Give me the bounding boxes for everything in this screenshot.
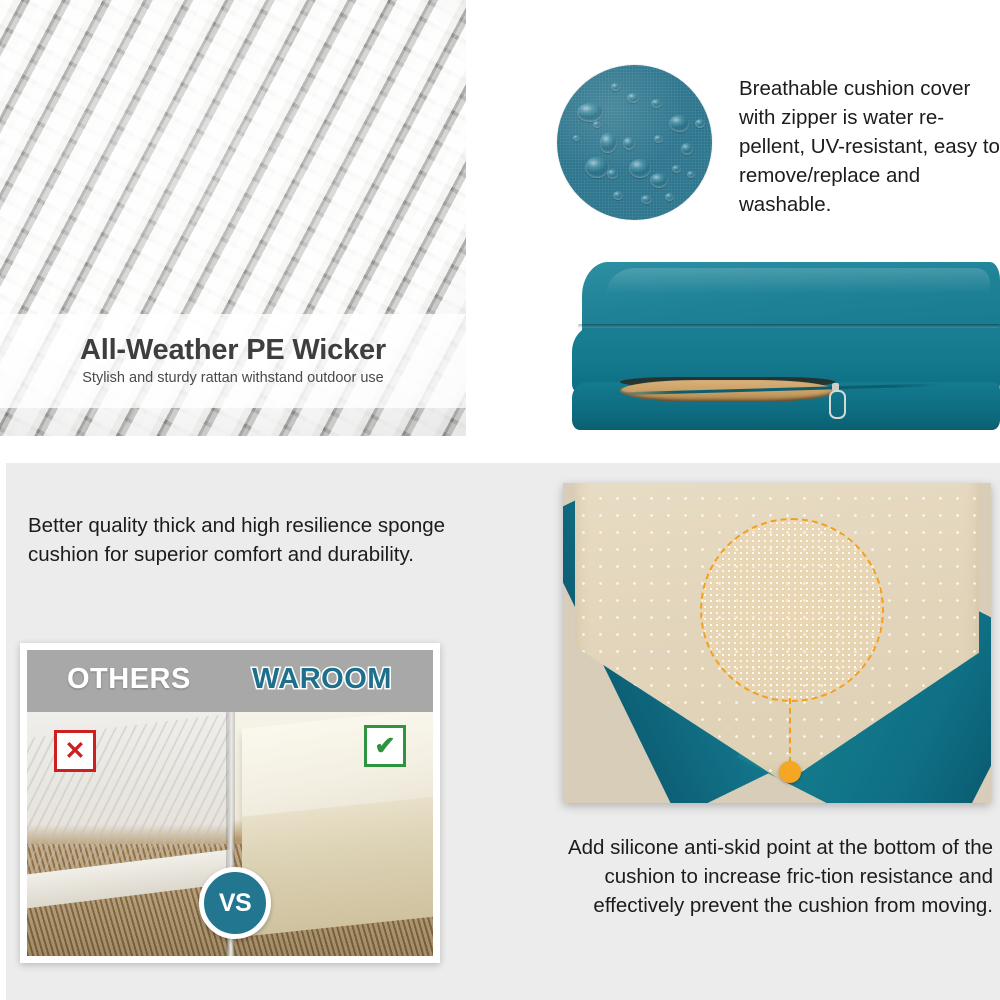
comparison-body: ✕ ✔ VS xyxy=(27,712,433,956)
wicker-caption: All-Weather PE Wicker Stylish and sturdy… xyxy=(0,314,466,408)
water-droplets-icon xyxy=(557,65,712,220)
droplet xyxy=(607,169,618,179)
droplet xyxy=(654,135,663,143)
callout-zoom-dots xyxy=(702,520,882,700)
wicker-photo: All-Weather PE Wicker Stylish and sturdy… xyxy=(0,0,466,436)
cushion-seam xyxy=(578,324,1000,328)
top-section: All-Weather PE Wicker Stylish and sturdy… xyxy=(0,0,1000,462)
callout-point-dot xyxy=(779,761,801,783)
droplet xyxy=(613,191,623,200)
droplet xyxy=(627,93,639,103)
waroom-label: WAROOM xyxy=(252,663,392,696)
droplet xyxy=(695,119,705,128)
droplet xyxy=(593,121,601,128)
droplet xyxy=(665,193,674,201)
cushion-highlight xyxy=(606,268,990,294)
droplet xyxy=(577,103,603,122)
others-side-photo: ✕ xyxy=(27,712,230,956)
others-vs-waroom-comparison: OTHERS WAROOM ✕ ✔ xyxy=(20,643,440,963)
droplet xyxy=(573,135,580,141)
droplet xyxy=(641,195,652,204)
droplet xyxy=(650,173,668,188)
others-label: OTHERS xyxy=(67,663,191,696)
teal-cushion-with-zipper xyxy=(572,262,1000,437)
vs-badge: VS xyxy=(199,867,271,939)
wicker-title: All-Weather PE Wicker xyxy=(80,335,386,365)
wicker-subtitle: Stylish and sturdy rattan withstand outd… xyxy=(82,371,383,387)
droplet xyxy=(687,171,695,178)
droplet xyxy=(629,159,651,178)
sponge-quality-description: Better quality thick and high resilience… xyxy=(28,511,448,569)
product-infographic: All-Weather PE Wicker Stylish and sturdy… xyxy=(0,0,1000,1000)
comparison-inner: OTHERS WAROOM ✕ ✔ xyxy=(27,650,433,956)
red-x-badge: ✕ xyxy=(54,730,96,772)
droplet xyxy=(585,157,609,178)
cushion-cover-description: Breathable cushion cover with zipper is … xyxy=(739,74,1000,219)
anti-skid-description: Add silicone anti-skid point at the bott… xyxy=(563,833,993,920)
droplet xyxy=(669,115,689,132)
bottom-section: Better quality thick and high resilience… xyxy=(6,463,1000,1000)
droplet xyxy=(651,99,662,108)
droplet xyxy=(623,137,635,150)
silicone-anti-skid-dots-photo xyxy=(563,483,991,803)
callout-circle xyxy=(700,518,884,702)
droplet xyxy=(611,83,620,91)
callout-leader-line xyxy=(789,698,791,763)
green-check-badge: ✔ xyxy=(364,725,406,767)
droplet xyxy=(681,143,693,155)
thick-foam-edge xyxy=(242,795,433,937)
zipper-pull-icon xyxy=(829,383,842,415)
droplet xyxy=(672,165,681,173)
